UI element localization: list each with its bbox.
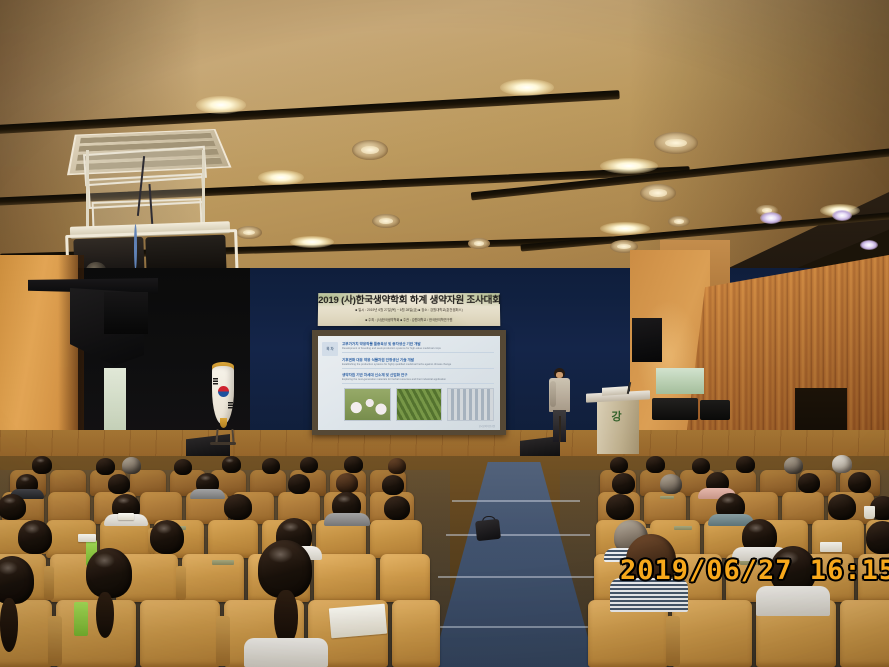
slide-bullet-rule [342, 352, 494, 353]
attendee [828, 494, 856, 520]
podium-body [597, 400, 639, 454]
slide-credit: 한국한의학연구원 [479, 424, 495, 428]
handout-paper [820, 542, 842, 552]
attendee [784, 457, 803, 474]
slide-bullet-rule [342, 383, 494, 384]
aisle-step [452, 500, 580, 502]
attendee [86, 548, 132, 598]
ceiling-downlight [236, 226, 262, 239]
aisle-step [438, 576, 598, 578]
green-booklet [74, 602, 88, 636]
seat[interactable] [840, 600, 889, 667]
recessed-spotlight-soffit [760, 212, 782, 224]
seat-armrest [666, 616, 680, 666]
seat[interactable] [392, 600, 440, 667]
lift-post [202, 150, 205, 230]
left-line-array-speaker-lower [104, 292, 148, 334]
ceiling-downlight [640, 184, 676, 202]
attendee-shoulders [244, 638, 328, 667]
attendee [222, 456, 241, 473]
attendee [610, 457, 628, 473]
flag-finial [220, 418, 227, 428]
trigram-mark [228, 402, 233, 409]
ceiling-downlight [352, 140, 388, 160]
attendee [288, 474, 310, 494]
trigram-mark [213, 378, 218, 385]
projector-lift [62, 150, 232, 280]
attendee [646, 456, 665, 473]
aisle-step [446, 534, 590, 536]
attendee [108, 474, 130, 494]
attendee [0, 556, 34, 604]
seat-number-tag [212, 560, 234, 565]
slide-image-strip [344, 388, 494, 421]
attendee [344, 456, 363, 473]
slide-bullet-en: Development of breeding and seed-product… [342, 347, 494, 351]
recessed-spotlight-soffit [860, 240, 878, 250]
projection-screen: 목 차 고부가가치 약용작물 품종육성 및 종자생산 기반 개발 Develop… [318, 336, 500, 430]
attendee-ponytail [0, 598, 18, 652]
attendee-shoulders [324, 513, 370, 526]
podium: 강 [594, 392, 642, 454]
attendee [866, 521, 889, 554]
korean-flag [206, 362, 240, 446]
attendee [848, 472, 871, 493]
paper-cup [864, 506, 875, 519]
stage-rear-equipment-secondary [700, 400, 730, 420]
ceiling-downlight [372, 214, 400, 228]
attendee [384, 496, 410, 520]
rear-lit-panel-right [656, 368, 704, 394]
podium-emblem: 강 [608, 410, 625, 425]
slide-bullet: 생약자원 기반 차세대 신소재 및 산업화 연구 Exploring the n… [342, 373, 494, 384]
presenter-leg-gap [559, 416, 561, 442]
recessed-spotlight-soffit [832, 210, 852, 221]
banner-title: 2019 (사)한국생약학회 하계 생약자원 조사대회 [318, 295, 500, 307]
seat[interactable] [858, 554, 889, 602]
banner-organizers: ■ 주최 : (사)한국생약학회 ■ 주관 : 강원대학교 / 한국한의학연구원 [318, 317, 500, 322]
slide-bullet-en: Establishing the production systems for … [342, 363, 494, 367]
banner-subline: ■ 일시 : 2019년 6월 27일(목) ~ 6월 28일(금) ■ 장소 … [318, 308, 500, 313]
handout-paper [118, 513, 134, 520]
floor-bag [475, 519, 501, 541]
auditorium-photo: 2019 (사)한국생약학회 하계 생약자원 조사대회 ■ 일시 : 2019년… [0, 0, 889, 667]
slide-bullet-en: Exploring the next-generation materials … [342, 378, 494, 382]
ceiling-downlight [468, 238, 490, 249]
slide-section-label: 목 차 [322, 342, 338, 356]
event-banner: 2019 (사)한국생약학회 하계 생약자원 조사대회 ■ 일시 : 2019년… [318, 293, 501, 326]
lift-post [86, 150, 89, 230]
attendee [18, 520, 52, 554]
seat-number-tag [660, 496, 674, 499]
seat[interactable] [314, 554, 376, 602]
seat-armrest [48, 616, 62, 666]
attendee [736, 456, 755, 473]
attendee [336, 473, 358, 493]
seat-number-tag [674, 526, 692, 530]
slide-photo-extraction-plant [447, 388, 494, 421]
attendee-shoulders [610, 578, 688, 612]
seat[interactable] [208, 520, 258, 558]
seat[interactable] [140, 600, 220, 667]
attendee [224, 494, 252, 520]
presenter [548, 368, 572, 444]
slide-bullet-list: 고부가가치 약용작물 품종육성 및 종자생산 기반 개발 Development… [342, 342, 494, 389]
attendee [300, 457, 318, 473]
seat-armrest [216, 616, 230, 666]
attendee [150, 520, 184, 554]
attendee [32, 456, 52, 474]
stage-rear-equipment [652, 398, 698, 420]
attendee [798, 473, 820, 493]
flag-base [210, 442, 236, 445]
projector-cable-blue [134, 224, 137, 270]
attendee [382, 475, 404, 495]
taeguk-symbol [218, 386, 229, 397]
attendee [660, 474, 682, 494]
handout-paper [329, 604, 387, 639]
slide-bullet: 기후변화 대응 약용 식물자원 안정생산 기술 개발 Establishing … [342, 358, 494, 369]
attendee-shoulders [756, 586, 830, 616]
attendee [122, 457, 141, 474]
slide-section-label-text: 목 차 [322, 342, 338, 356]
seat-armrest [176, 566, 186, 600]
seat[interactable] [380, 554, 430, 602]
ceiling-downlight [654, 132, 698, 154]
slide-bullet-rule [342, 368, 494, 369]
attendee [0, 494, 26, 520]
attendee [612, 473, 635, 494]
attendee [388, 458, 406, 474]
seat[interactable] [812, 520, 864, 558]
attendee [832, 455, 852, 473]
slide-photo-chrysanthemum [344, 388, 391, 421]
attendee [262, 458, 280, 474]
slide-bullet: 고부가가치 약용작물 품종육성 및 종자생산 기반 개발 Development… [342, 342, 494, 353]
seat-armrest [44, 566, 54, 600]
attendee [96, 458, 115, 475]
right-line-array-speaker [632, 318, 662, 362]
attendee-shoulders [190, 489, 225, 499]
handout-paper [78, 534, 96, 542]
ceiling-downlight [668, 216, 690, 227]
presenter-arm [550, 381, 556, 407]
seat[interactable] [370, 520, 422, 558]
aisle-step [430, 626, 606, 628]
attendee-ponytail [96, 592, 114, 638]
attendee [174, 459, 192, 475]
attendee [606, 494, 634, 520]
slide-photo-herb-plots [396, 388, 443, 421]
